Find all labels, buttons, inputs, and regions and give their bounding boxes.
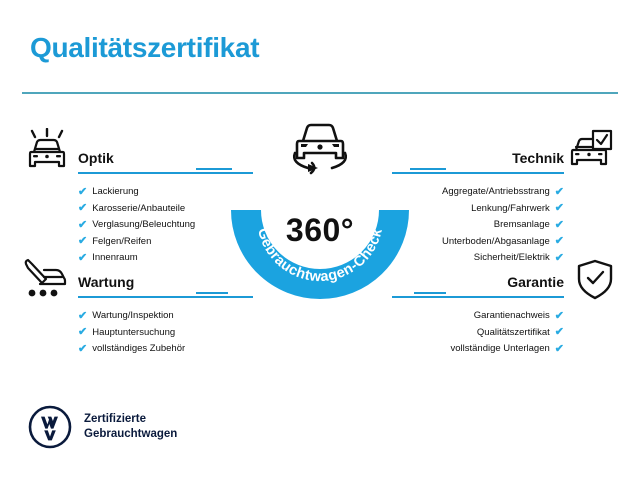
check-icon: ✔: [78, 327, 87, 338]
check-icon: ✔: [78, 236, 87, 247]
list-item-label: Bremsanlage: [494, 217, 550, 234]
car-front-shine-icon: [24, 128, 70, 172]
page-title: Qualitätszertifikat: [30, 32, 259, 64]
check-icon: ✔: [78, 220, 87, 231]
check-icon: ✔: [78, 203, 87, 214]
list-item-label: Karosserie/Anbauteile: [92, 201, 185, 218]
list-item: Unterboden/Abgasanlage✔: [392, 234, 564, 251]
footer-line-1: Zertifizierte: [84, 412, 177, 427]
section-technik-items: Aggregate/Antriebsstrang✔ Lenkung/Fahrwe…: [392, 184, 564, 267]
list-item-label: vollständige Unterlagen: [450, 341, 549, 358]
title-divider: [22, 92, 618, 94]
check-icon: ✔: [78, 344, 87, 355]
check-icon: ✔: [555, 220, 564, 231]
section-garantie-items: Garantienachweis✔ Qualitätszertifikat✔ v…: [392, 308, 564, 358]
wrench-car-icon: [22, 258, 68, 302]
car-front-rotate-icon: [284, 117, 356, 179]
list-item-label: Wartung/Inspektion: [92, 308, 174, 325]
list-item: ✔Wartung/Inspektion: [78, 308, 253, 325]
list-item-label: Unterboden/Abgasanlage: [442, 234, 550, 251]
check-icon: ✔: [78, 253, 87, 264]
list-item-label: Garantienachweis: [474, 308, 550, 325]
list-item-label: Felgen/Reifen: [92, 234, 151, 251]
list-item-label: Qualitätszertifikat: [477, 325, 550, 342]
badge-center-label: 360°: [224, 212, 416, 249]
section-garantie-title: Garantie: [507, 274, 564, 290]
vw-logo-icon: [28, 405, 72, 449]
section-garantie: Garantie Garantienachweis✔ Qualitätszert…: [392, 264, 564, 358]
check-icon: ✔: [78, 187, 87, 198]
check-icon: ✔: [555, 344, 564, 355]
section-technik-underline: [392, 172, 564, 174]
check-icon: ✔: [555, 253, 564, 264]
quality-certificate-page: Qualitätszertifikat Optik ✔Lackierun: [0, 0, 640, 480]
section-technik: Technik Aggregate/Antriebsstrang✔ Lenkun…: [392, 140, 564, 267]
divider-right-bottom: [414, 292, 446, 294]
list-item-label: Lenkung/Fahrwerk: [471, 201, 550, 218]
check-icon: ✔: [555, 311, 564, 322]
list-item: Bremsanlage✔: [392, 217, 564, 234]
list-item: Aggregate/Antriebsstrang✔: [392, 184, 564, 201]
list-item-label: Hauptuntersuchung: [92, 325, 175, 342]
list-item-label: vollständiges Zubehör: [92, 341, 185, 358]
check-icon: ✔: [78, 311, 87, 322]
section-optik-title: Optik: [78, 150, 114, 166]
footer-text: Zertifizierte Gebrauchtwagen: [84, 412, 177, 442]
check-icon: ✔: [555, 327, 564, 338]
list-item: vollständige Unterlagen✔: [392, 341, 564, 358]
list-item-label: Lackierung: [92, 184, 138, 201]
section-garantie-underline: [392, 296, 564, 298]
section-wartung-title: Wartung: [78, 274, 134, 290]
check-icon: ✔: [555, 203, 564, 214]
section-technik-title: Technik: [512, 150, 564, 166]
footer-line-2: Gebrauchtwagen: [84, 427, 177, 442]
list-item-label: Aggregate/Antriebsstrang: [442, 184, 550, 201]
check-icon: ✔: [555, 187, 564, 198]
list-item: ✔vollständiges Zubehör: [78, 341, 253, 358]
footer-brand: Zertifizierte Gebrauchtwagen: [28, 405, 177, 449]
shield-check-icon: [572, 258, 618, 302]
list-item: Lenkung/Fahrwerk✔: [392, 201, 564, 218]
list-item: ✔Hauptuntersuchung: [78, 325, 253, 342]
list-item: Qualitätszertifikat✔: [392, 325, 564, 342]
car-front-checkbox-icon: [568, 128, 614, 172]
check-icon: ✔: [555, 236, 564, 247]
list-item: Garantienachweis✔: [392, 308, 564, 325]
list-item-label: Verglasung/Beleuchtung: [92, 217, 195, 234]
section-wartung-items: ✔Wartung/Inspektion ✔Hauptuntersuchung ✔…: [78, 308, 253, 358]
